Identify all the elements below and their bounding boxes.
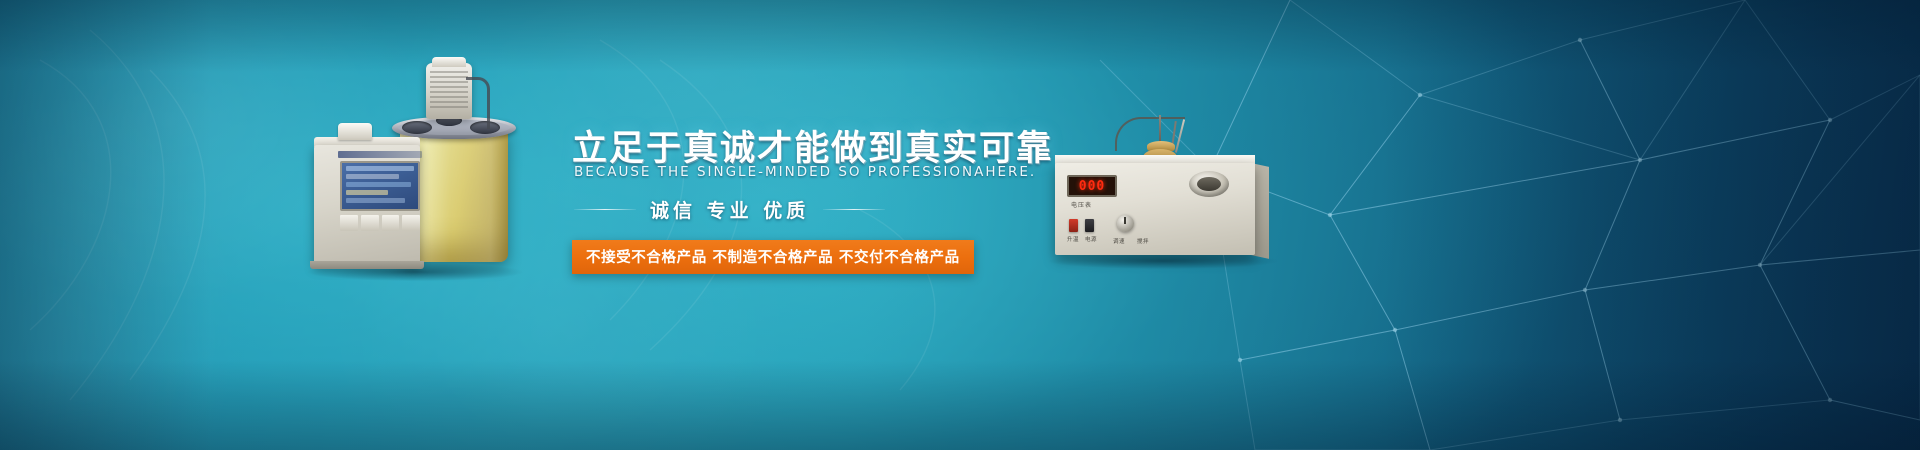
speed-knob: [1117, 215, 1134, 232]
promo-banner: 000 电压表 升温 电源 调速 搅拌 立足于真诚才能做到真实可靠 BECAUS…: [0, 0, 1920, 450]
bath-tubing: [466, 77, 490, 129]
tagline-rule-right: [823, 209, 885, 210]
banner-copy-block: 立足于真诚才能做到真实可靠 BECAUSE THE SINGLE-MINDED …: [560, 0, 1030, 450]
sample-well: [1189, 171, 1229, 197]
viscometer-instrument-image: [300, 55, 550, 285]
console-keypad: [340, 215, 420, 231]
heat-button: [1069, 219, 1078, 232]
controller-console: [314, 145, 420, 265]
heat-button-label: 升温: [1067, 235, 1079, 243]
flash-point-tester-image: 000 电压表 升温 电源 调速 搅拌: [1055, 115, 1270, 275]
lcd-line: [346, 190, 388, 195]
keypad-key: [402, 215, 420, 231]
tagline-rule-left: [574, 209, 636, 210]
stir-label: 搅拌: [1137, 237, 1149, 245]
speed-knob-label: 调速: [1113, 237, 1125, 245]
console-lid: [338, 123, 372, 140]
tagline-row: 诚信 专业 优质: [574, 196, 1014, 223]
right-instrument-shadow: [1049, 253, 1277, 269]
keypad-key: [382, 215, 400, 231]
tester-button-group: [1069, 219, 1094, 232]
quality-pledge-text: 不接受不合格产品 不制造不合格产品 不交付不合格产品: [586, 250, 960, 266]
lcd-line: [346, 174, 399, 179]
banner-subheadline-english: BECAUSE THE SINGLE-MINDED SO PROFESSIONA…: [574, 164, 1024, 180]
lcd-line: [346, 198, 405, 203]
led-display: 000: [1067, 175, 1117, 197]
console-base-foot: [310, 261, 424, 269]
lcd-line: [346, 182, 411, 187]
lcd-line: [346, 166, 414, 171]
console-brand-strip: [338, 151, 422, 158]
led-display-value: 000: [1079, 179, 1105, 194]
voltage-meter-label: 电压表: [1071, 200, 1092, 209]
keypad-key: [361, 215, 379, 231]
power-button: [1085, 219, 1094, 232]
power-button-label: 电源: [1085, 235, 1097, 243]
banner-tagline: 诚信 专业 优质: [650, 196, 809, 223]
keypad-key: [340, 215, 358, 231]
bath-port-left: [402, 121, 432, 134]
console-lcd-screen: [340, 161, 420, 211]
quality-pledge-banner: 不接受不合格产品 不制造不合格产品 不交付不合格产品: [572, 240, 974, 274]
stirrer-cap: [432, 57, 466, 67]
